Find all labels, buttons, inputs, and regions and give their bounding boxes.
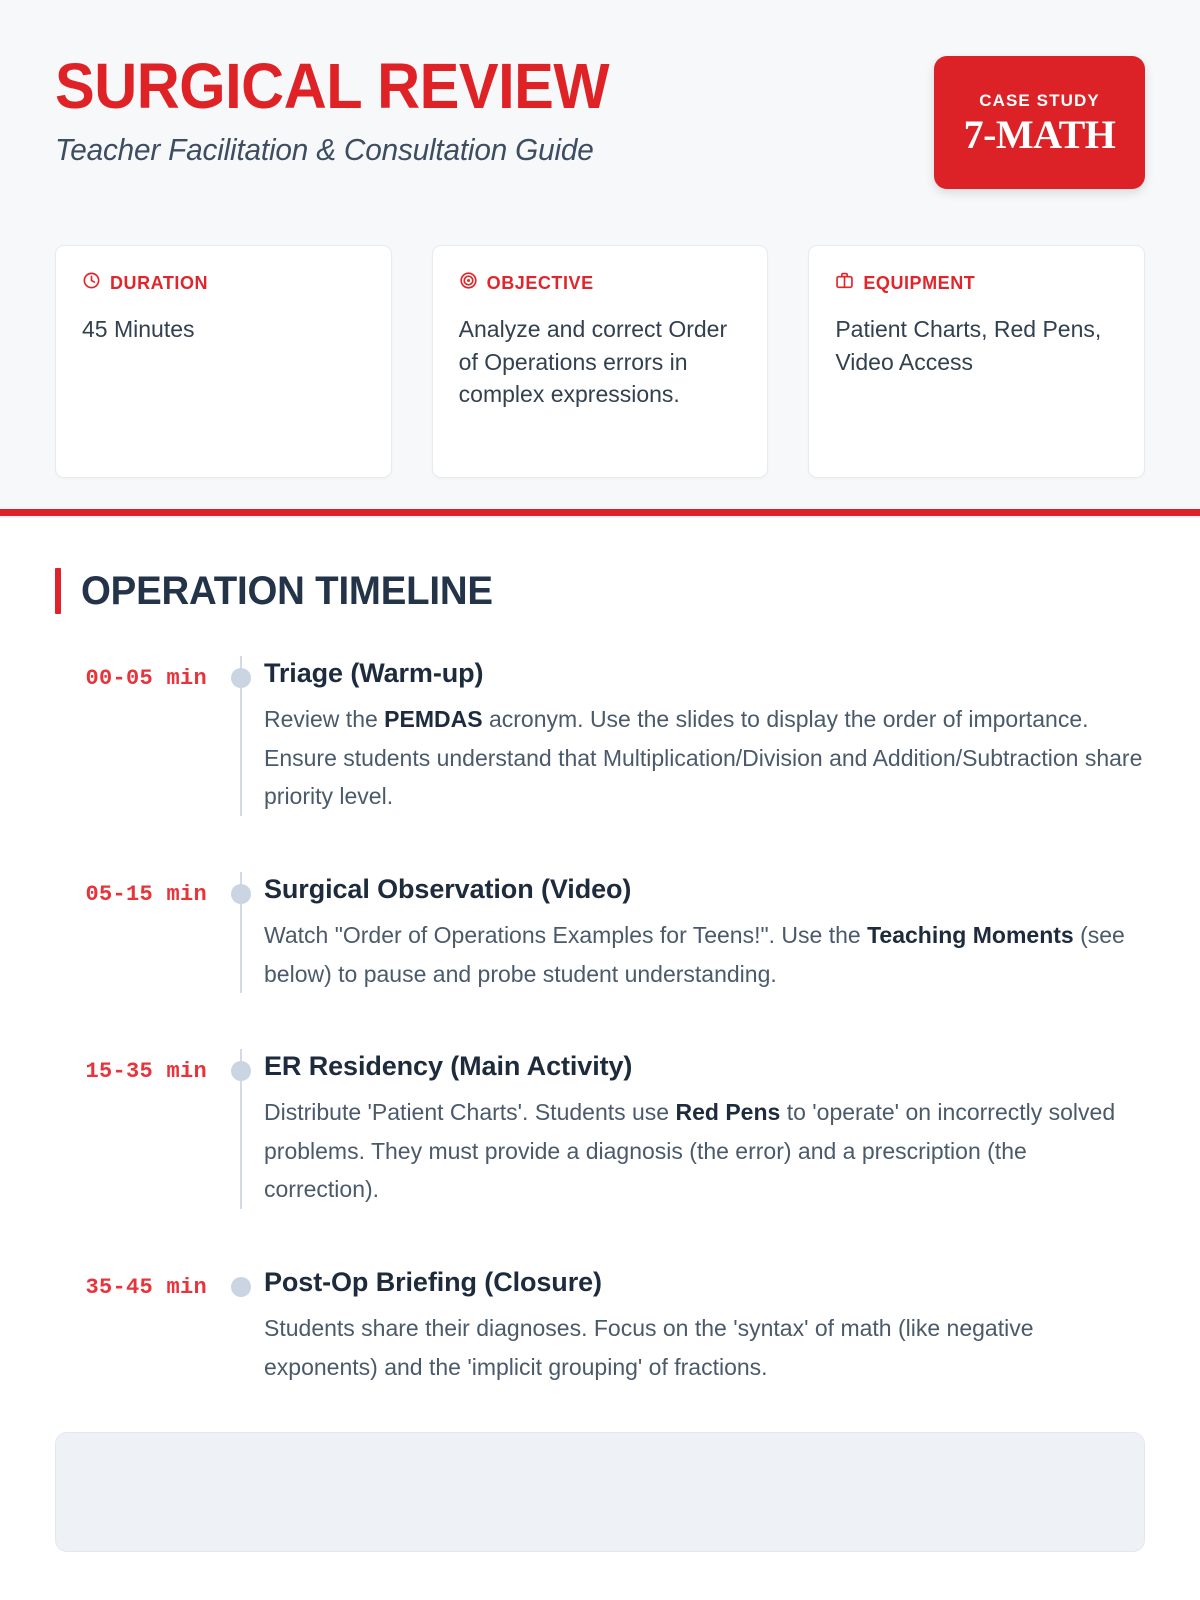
timeline-rail (223, 1049, 259, 1209)
header-divider-shadow (0, 516, 1200, 518)
timeline-description: Review the PEMDAS acronym. Use the slide… (264, 700, 1145, 816)
timeline-section: OPERATION TIMELINE 00-05 minTriage (Warm… (0, 516, 1200, 1386)
timeline-list: 00-05 minTriage (Warm-up)Review the PEMD… (55, 656, 1145, 1386)
timeline-body: Triage (Warm-up)Review the PEMDAS acrony… (259, 656, 1145, 816)
section-title-row: OPERATION TIMELINE (55, 568, 1145, 614)
timeline-time-label: 35-45 min (55, 1265, 223, 1300)
timeline-body: ER Residency (Main Activity)Distribute '… (259, 1049, 1145, 1209)
timeline-dot-icon (231, 884, 251, 904)
info-card-header: OBJECTIVE (459, 271, 742, 295)
page-header: SURGICAL REVIEW Teacher Facilitation & C… (0, 0, 1200, 516)
timeline-time-label: 00-05 min (55, 656, 223, 691)
timeline-dot-icon (231, 1061, 251, 1081)
info-card-body: Analyze and correct Order of Operations … (459, 313, 742, 411)
info-card-header: DURATION (82, 271, 365, 295)
timeline-time-label: 05-15 min (55, 872, 223, 907)
timeline-heading: Triage (Warm-up) (264, 658, 1145, 689)
badge-kicker-label: CASE STUDY (979, 91, 1100, 111)
timeline-item: 35-45 minPost-Op Briefing (Closure)Stude… (55, 1265, 1145, 1386)
timeline-emphasis: Teaching Moments (867, 922, 1074, 948)
header-top-row: SURGICAL REVIEW Teacher Facilitation & C… (55, 52, 1145, 189)
info-card-label: EQUIPMENT (863, 273, 975, 294)
timeline-time-label: 15-35 min (55, 1049, 223, 1084)
teaching-moments-panel (55, 1432, 1145, 1552)
timeline-rail (223, 656, 259, 816)
title-block: SURGICAL REVIEW Teacher Facilitation & C… (55, 52, 651, 168)
info-card-row: DURATION 45 Minutes OBJECTIVE Analyze an… (55, 245, 1145, 478)
info-card-label: OBJECTIVE (487, 273, 594, 294)
timeline-item: 00-05 minTriage (Warm-up)Review the PEMD… (55, 656, 1145, 872)
timeline-rail (223, 872, 259, 993)
timeline-rail (223, 1265, 259, 1386)
info-card-equipment: EQUIPMENT Patient Charts, Red Pens, Vide… (808, 245, 1145, 478)
briefcase-icon (835, 271, 854, 295)
timeline-body: Surgical Observation (Video)Watch "Order… (259, 872, 1145, 993)
timeline-heading: Surgical Observation (Video) (264, 874, 1145, 905)
section-title: OPERATION TIMELINE (81, 569, 493, 614)
timeline-description: Distribute 'Patient Charts'. Students us… (264, 1093, 1145, 1209)
info-card-label: DURATION (110, 273, 208, 294)
info-card-header: EQUIPMENT (835, 271, 1118, 295)
header-divider (0, 509, 1200, 516)
timeline-heading: ER Residency (Main Activity) (264, 1051, 1145, 1082)
timeline-item: 15-35 minER Residency (Main Activity)Dis… (55, 1049, 1145, 1265)
page-subtitle: Teacher Facilitation & Consultation Guid… (55, 132, 627, 168)
timeline-dot-icon (231, 1277, 251, 1297)
timeline-heading: Post-Op Briefing (Closure) (264, 1267, 1145, 1298)
timeline-dot-icon (231, 668, 251, 688)
timeline-emphasis: Red Pens (675, 1099, 780, 1125)
info-card-body: Patient Charts, Red Pens, Video Access (835, 313, 1118, 378)
info-card-body: 45 Minutes (82, 313, 365, 346)
timeline-description: Watch "Order of Operations Examples for … (264, 916, 1145, 993)
clock-icon (82, 271, 101, 295)
timeline-emphasis: PEMDAS (384, 706, 482, 732)
section-accent-bar (55, 568, 61, 614)
timeline-item: 05-15 minSurgical Observation (Video)Wat… (55, 872, 1145, 1049)
case-study-badge: CASE STUDY 7-MATH (934, 56, 1145, 189)
info-card-objective: OBJECTIVE Analyze and correct Order of O… (432, 245, 769, 478)
info-card-duration: DURATION 45 Minutes (55, 245, 392, 478)
timeline-description: Students share their diagnoses. Focus on… (264, 1309, 1145, 1386)
badge-code-label: 7-MATH (964, 115, 1116, 155)
timeline-body: Post-Op Briefing (Closure)Students share… (259, 1265, 1145, 1386)
target-icon (459, 271, 478, 295)
page-title: SURGICAL REVIEW (55, 54, 609, 119)
